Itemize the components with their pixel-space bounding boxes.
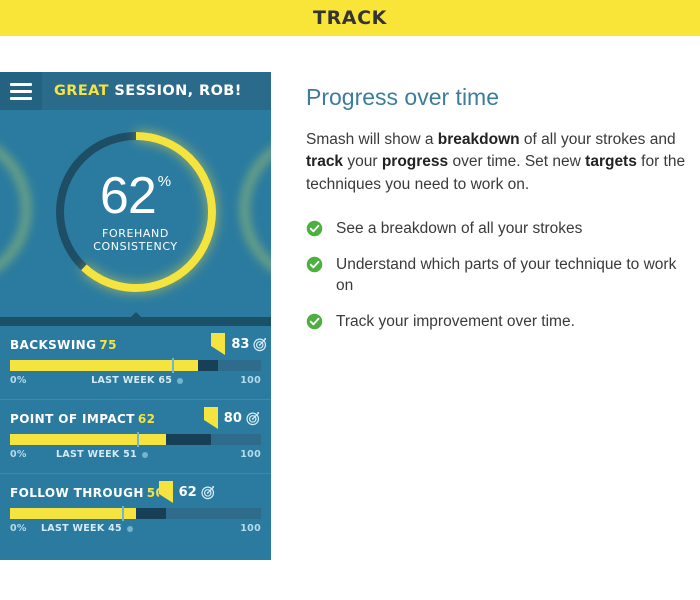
panel-body-emphasis: targets (585, 153, 637, 170)
axis-max-label: 100 (240, 375, 261, 386)
metric-row[interactable]: BACKSWING75830%LAST WEEK 65100 (0, 326, 271, 400)
panel-description: Smash will show a breakdown of all your … (306, 129, 694, 196)
target-value: 62 (179, 485, 197, 500)
metric-name: POINT OF IMPACT62 (10, 412, 155, 426)
last-week-dot (177, 378, 183, 384)
feature-bullet: See a breakdown of all your strokes (306, 218, 694, 239)
content-stage: GREAT SESSION, ROB! (0, 36, 700, 600)
last-week-tick (122, 506, 124, 521)
check-circle-icon (306, 220, 323, 237)
panel-body-text: over time. Set new (448, 153, 585, 170)
target-flag-icon (159, 481, 173, 503)
metric-name: FOLLOW THROUGH50 (10, 486, 164, 500)
bar-fill (10, 434, 166, 445)
panel-body-emphasis: track (306, 153, 343, 170)
metrics-list: BACKSWING75830%LAST WEEK 65100POINT OF I… (0, 326, 271, 547)
bar-axis: 0%LAST WEEK 45100 (10, 521, 261, 537)
metric-progress-bar[interactable] (10, 508, 261, 519)
gauge-glow (52, 128, 220, 296)
axis-min-label: 0% (10, 375, 27, 386)
metric-name-text: BACKSWING (10, 338, 96, 352)
check-circle-icon (306, 256, 323, 273)
metric-header: FOLLOW THROUGH5062 (10, 483, 261, 502)
metric-name: BACKSWING75 (10, 338, 117, 352)
feature-bullet-text: Track your improvement over time. (336, 311, 575, 332)
last-week-dot (142, 452, 148, 458)
banner-title: TRACK (313, 7, 387, 29)
metric-name-text: FOLLOW THROUGH (10, 486, 144, 500)
last-week-dot (127, 526, 133, 532)
metric-header: BACKSWING7583 (10, 335, 261, 354)
last-week-tick (137, 432, 139, 447)
bar-fill (10, 508, 136, 519)
greeting-rest: SESSION, ROB! (114, 83, 241, 99)
bar-axis: 0%LAST WEEK 51100 (10, 447, 261, 463)
metric-progress-bar[interactable] (10, 434, 261, 445)
target-flag-icon (204, 407, 218, 429)
bar-axis: 0%LAST WEEK 65100 (10, 373, 261, 389)
metric-target[interactable]: 83 (211, 333, 268, 355)
metric-target[interactable]: 80 (204, 407, 261, 429)
last-week-tick (172, 358, 174, 373)
target-icon (246, 411, 261, 426)
gauge-peek-left[interactable] (0, 134, 30, 284)
session-greeting: GREAT SESSION, ROB! (54, 83, 242, 99)
greeting-highlight: GREAT (54, 83, 109, 99)
axis-max-label: 100 (240, 449, 261, 460)
axis-min-label: 0% (10, 523, 27, 534)
metric-header: POINT OF IMPACT6280 (10, 409, 261, 428)
feature-bullet: Track your improvement over time. (306, 311, 694, 332)
gauge-peek-right[interactable] (241, 134, 271, 284)
panel-body-text: of all your strokes and (520, 131, 676, 148)
target-value: 80 (224, 411, 242, 426)
target-value: 83 (231, 337, 249, 352)
hamburger-icon[interactable] (0, 72, 42, 110)
app-header: GREAT SESSION, ROB! (0, 72, 271, 110)
section-divider (0, 317, 271, 326)
target-icon (253, 337, 268, 352)
metric-name-text: POINT OF IMPACT (10, 412, 135, 426)
last-week-label: LAST WEEK 45 (41, 523, 122, 534)
last-week-marker: LAST WEEK 65 (91, 375, 183, 386)
last-week-marker: LAST WEEK 51 (56, 449, 148, 460)
consistency-gauge: 62 % FOREHAND CONSISTENCY (52, 128, 220, 296)
last-week-label: LAST WEEK 51 (56, 449, 137, 460)
last-week-marker: LAST WEEK 45 (41, 523, 133, 534)
metric-row[interactable]: FOLLOW THROUGH50620%LAST WEEK 45100 (0, 474, 271, 547)
check-circle-icon (306, 313, 323, 330)
last-week-label: LAST WEEK 65 (91, 375, 172, 386)
metric-score: 62 (138, 412, 156, 426)
feature-bullet: Understand which parts of your technique… (306, 254, 694, 297)
panel-body-text: your (343, 153, 382, 170)
feature-bullet-text: See a breakdown of all your strokes (336, 218, 582, 239)
panel-body-emphasis: progress (382, 153, 448, 170)
feature-bullet-text: Understand which parts of your technique… (336, 254, 694, 297)
panel-body-text: Smash will show a (306, 131, 438, 148)
target-flag-icon (211, 333, 225, 355)
panel-body-emphasis: breakdown (438, 131, 520, 148)
panel-title: Progress over time (306, 84, 694, 111)
feature-bullet-list: See a breakdown of all your strokesUnder… (306, 218, 694, 332)
axis-min-label: 0% (10, 449, 27, 460)
metric-progress-bar[interactable] (10, 360, 261, 371)
bar-fill (10, 360, 198, 371)
page-banner: TRACK (0, 0, 700, 36)
phone-mockup: GREAT SESSION, ROB! (0, 72, 271, 560)
gauge-carousel[interactable]: 62 % FOREHAND CONSISTENCY (0, 110, 271, 326)
metric-target[interactable]: 62 (159, 481, 216, 503)
info-panel: Progress over time Smash will show a bre… (306, 72, 694, 346)
axis-max-label: 100 (240, 523, 261, 534)
metric-row[interactable]: POINT OF IMPACT62800%LAST WEEK 51100 (0, 400, 271, 474)
target-icon (201, 485, 216, 500)
metric-score: 75 (99, 338, 117, 352)
